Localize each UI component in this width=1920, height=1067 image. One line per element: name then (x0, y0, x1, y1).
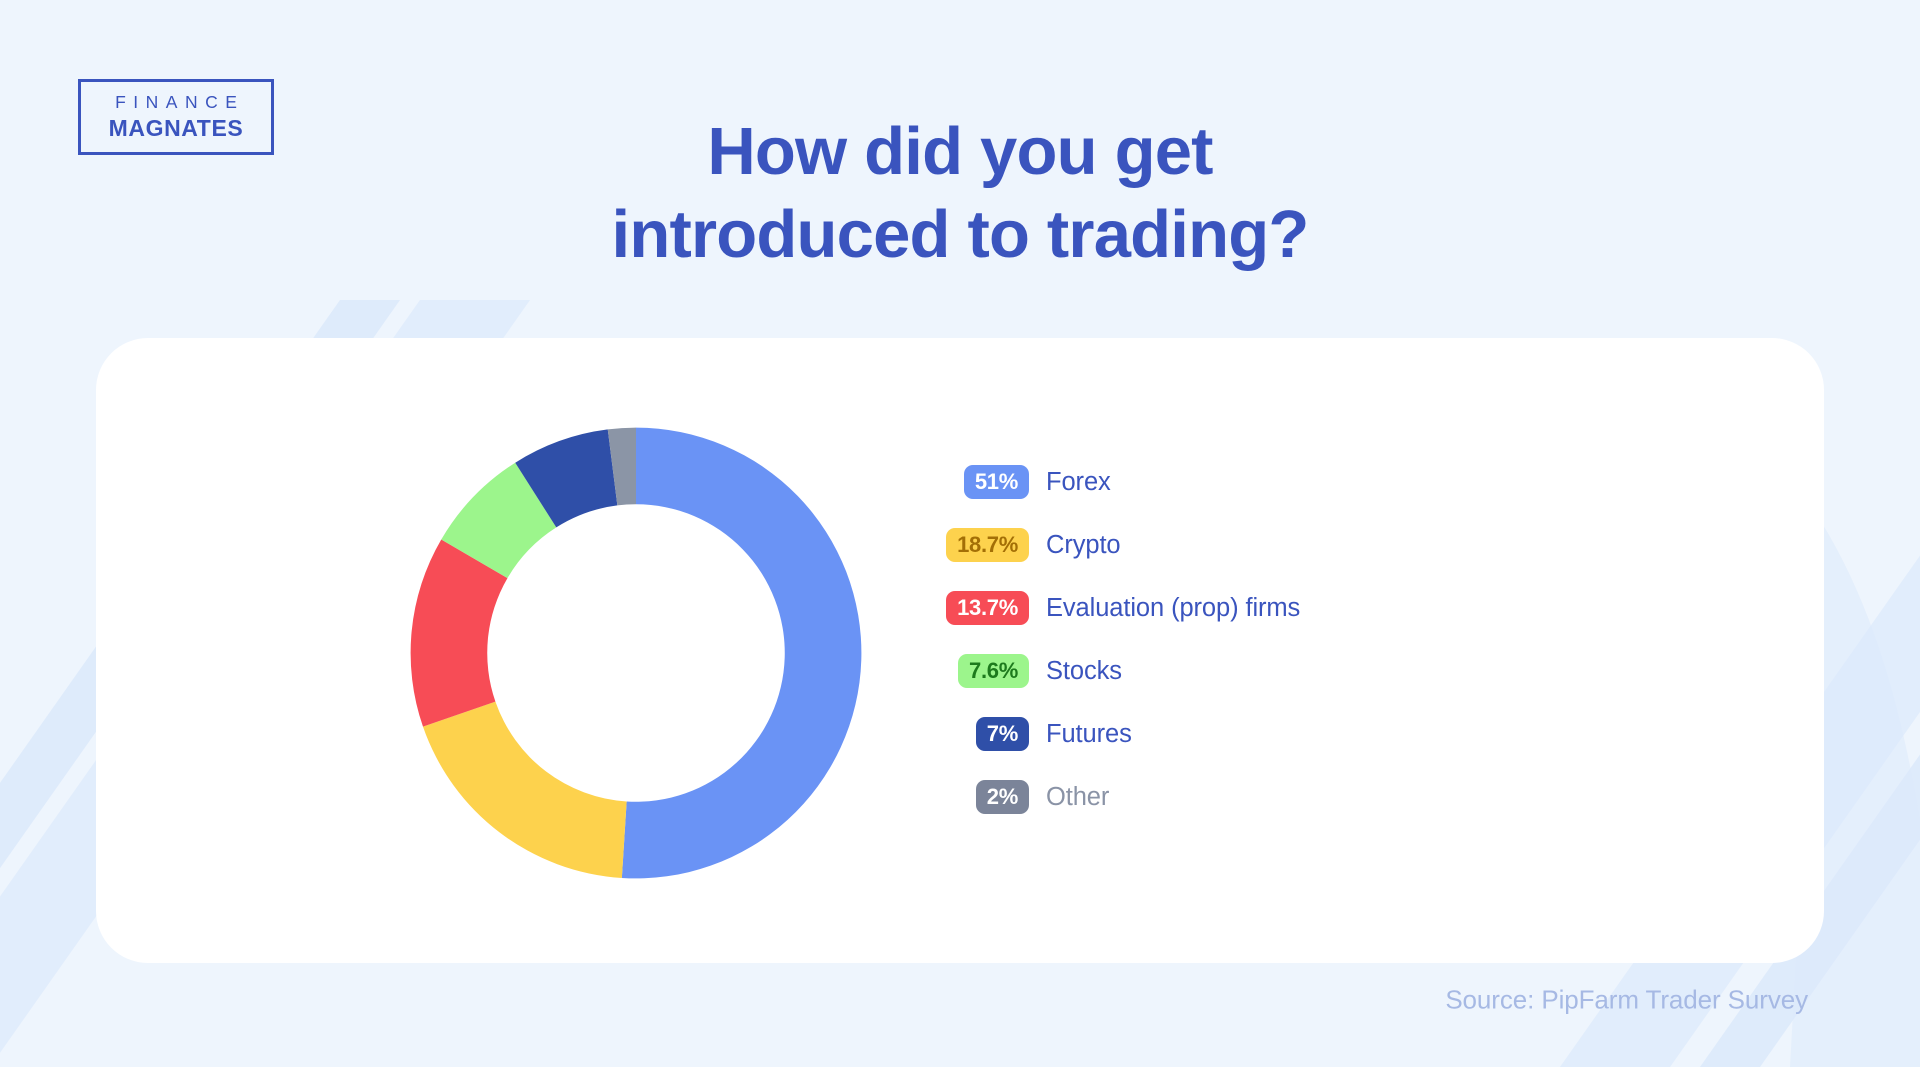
page-title-line-2: introduced to trading? (0, 193, 1920, 276)
legend-item-other[interactable]: 2%Other (951, 778, 1300, 816)
legend-badge-slot: 51% (951, 465, 1029, 499)
legend-item-futures[interactable]: 7%Futures (951, 715, 1300, 753)
legend-percentage-badge: 2% (976, 780, 1029, 814)
legend-category-label: Forex (1046, 468, 1111, 497)
donut-chart (406, 423, 866, 883)
donut-segment-crypto[interactable] (423, 702, 627, 878)
legend-percentage-badge: 51% (964, 465, 1029, 499)
legend-category-label: Evaluation (prop) firms (1046, 594, 1300, 623)
legend-percentage-badge: 13.7% (946, 591, 1029, 625)
legend-item-evaluation-prop-firms[interactable]: 13.7%Evaluation (prop) firms (951, 589, 1300, 627)
legend-percentage-badge: 7.6% (958, 654, 1029, 688)
infographic-root: FINANCE MAGNATES How did you get introdu… (0, 0, 1920, 1067)
legend-item-stocks[interactable]: 7.6%Stocks (951, 652, 1300, 690)
chart-legend: 51%Forex18.7%Crypto13.7%Evaluation (prop… (951, 463, 1300, 816)
page-title: How did you get introduced to trading? (0, 110, 1920, 276)
legend-badge-slot: 2% (951, 780, 1029, 814)
donut-segment-forex[interactable] (622, 428, 862, 879)
legend-category-label: Stocks (1046, 657, 1122, 686)
legend-item-forex[interactable]: 51%Forex (951, 463, 1300, 501)
legend-badge-slot: 7% (951, 717, 1029, 751)
source-attribution: Source: PipFarm Trader Survey (1445, 985, 1808, 1016)
legend-category-label: Other (1046, 783, 1109, 812)
legend-item-crypto[interactable]: 18.7%Crypto (951, 526, 1300, 564)
page-title-line-1: How did you get (0, 110, 1920, 193)
legend-badge-slot: 13.7% (951, 591, 1029, 625)
legend-category-label: Futures (1046, 720, 1132, 749)
legend-badge-slot: 7.6% (951, 654, 1029, 688)
legend-percentage-badge: 18.7% (946, 528, 1029, 562)
chart-card: 51%Forex18.7%Crypto13.7%Evaluation (prop… (96, 338, 1824, 963)
legend-badge-slot: 18.7% (951, 528, 1029, 562)
legend-percentage-badge: 7% (976, 717, 1029, 751)
legend-category-label: Crypto (1046, 531, 1121, 560)
